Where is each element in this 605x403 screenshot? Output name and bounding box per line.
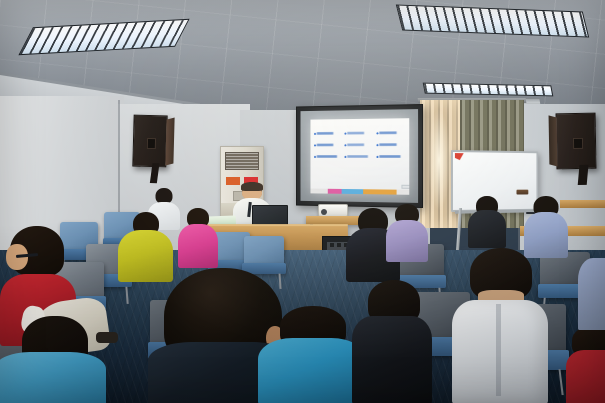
slide-item-text bbox=[348, 132, 365, 135]
attendee-black-tee-front bbox=[352, 280, 432, 403]
speaker-bracket bbox=[578, 165, 589, 185]
slide-item-text bbox=[348, 155, 369, 158]
light-louvers bbox=[424, 84, 552, 96]
slide-bullet-item bbox=[314, 143, 342, 146]
attendee-right-edge-shoulder bbox=[578, 250, 605, 330]
slide-bullet-item bbox=[376, 131, 405, 134]
attendee-torso bbox=[0, 352, 106, 403]
attendee-torso bbox=[468, 210, 506, 248]
ac-grille bbox=[225, 152, 259, 170]
attendee-white-dress-shirt bbox=[452, 248, 548, 403]
seminar-room-photo bbox=[0, 0, 605, 403]
slide-bullet-item bbox=[376, 143, 405, 146]
projection-screen bbox=[296, 104, 423, 208]
projected-slide bbox=[310, 118, 409, 195]
slide-item-text bbox=[317, 132, 333, 135]
marker-holder-icon bbox=[455, 153, 464, 160]
slide-columns bbox=[314, 131, 405, 167]
slide-item-text bbox=[317, 155, 337, 158]
attendee-torso bbox=[352, 316, 432, 403]
attendee-torso bbox=[258, 338, 366, 403]
slide-bullet-item bbox=[345, 155, 373, 158]
slide-bar-segment bbox=[363, 189, 397, 194]
projector-lens-icon bbox=[321, 209, 327, 215]
presenter-hair bbox=[241, 182, 263, 191]
attendee-torso bbox=[386, 220, 428, 262]
slide-item-text bbox=[379, 131, 396, 134]
attendee-left-blue bbox=[0, 316, 106, 403]
slide-item-text bbox=[379, 143, 396, 146]
slide-item-text bbox=[379, 155, 400, 158]
slide-bar-segment bbox=[397, 190, 409, 195]
attendee-purple-shirt bbox=[386, 204, 428, 262]
attendee-foreground-dark bbox=[468, 196, 506, 248]
whiteboard-eraser bbox=[516, 190, 528, 195]
slide-corner-tag bbox=[401, 185, 409, 189]
shirt-placket bbox=[496, 304, 501, 396]
chair-back bbox=[244, 236, 284, 265]
slide-item-text bbox=[317, 143, 333, 146]
slide-column bbox=[314, 132, 342, 167]
slide-bar-segment bbox=[341, 189, 363, 194]
speaker-port bbox=[573, 138, 584, 149]
attendee-torso bbox=[178, 224, 218, 268]
slide-bullet-item bbox=[376, 155, 405, 158]
wall-speaker-left bbox=[132, 115, 167, 168]
glasses-icon bbox=[526, 212, 535, 214]
attendee-right-red bbox=[566, 326, 605, 403]
slide-footer-bar bbox=[310, 189, 409, 195]
slide-bar-segment bbox=[328, 189, 342, 194]
attendee-cyan-shirt bbox=[258, 306, 366, 403]
attendee-pink-shirt bbox=[178, 208, 218, 268]
slide-bullet-item bbox=[345, 143, 373, 146]
slide-bullet-item bbox=[314, 132, 342, 135]
slide-column bbox=[345, 131, 373, 166]
speaker-side bbox=[549, 115, 558, 166]
speaker-side bbox=[165, 117, 174, 165]
attendee-torso bbox=[578, 258, 605, 330]
slide-bullet-item bbox=[314, 155, 342, 158]
slide-bar-segment bbox=[310, 189, 327, 194]
speaker-port bbox=[147, 138, 156, 149]
slide-item-text bbox=[348, 143, 365, 146]
attendee-torso bbox=[566, 350, 605, 403]
slide-column bbox=[376, 131, 405, 167]
slide-bullet-item bbox=[345, 131, 373, 134]
window-daylight-glow bbox=[428, 110, 450, 210]
screen-surface bbox=[301, 109, 419, 203]
wall-speaker-right bbox=[556, 113, 597, 170]
